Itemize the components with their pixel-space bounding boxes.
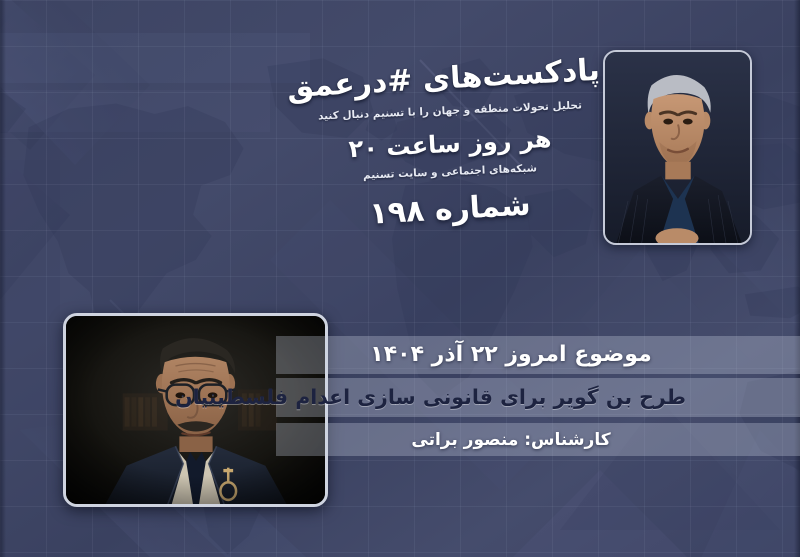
expert-band: کارشناس: منصور براتی: [336, 423, 686, 456]
main-text-block: موضوع امروز ۲۲ آذر ۱۴۰۴ طرح بن گویر برای…: [336, 336, 686, 456]
headline-text: طرح بن گویر برای قانونی سازی اعدام فلسطی…: [175, 385, 686, 409]
headline-band: طرح بن گویر برای قانونی سازی اعدام فلسطی…: [336, 378, 686, 417]
right-edge-shade: [794, 0, 800, 557]
brand-title: پادکست‌های #درعمق: [299, 54, 600, 105]
topic-date-text: موضوع امروز ۲۲ آذر ۱۴۰۴: [370, 342, 651, 367]
expert-text: کارشناس: منصور براتی: [411, 430, 610, 450]
left-edge-shade: [0, 0, 6, 557]
host-photo: [603, 50, 752, 245]
topic-date-band: موضوع امروز ۲۲ آذر ۱۴۰۴: [336, 336, 686, 374]
podcast-poster: پادکست‌های #درعمق تحلیل تحولات منطقه و ج…: [0, 0, 800, 557]
header-text-block: پادکست‌های #درعمق تحلیل تحولات منطقه و ج…: [300, 62, 600, 227]
schedule-text: هر روز ساعت ۲۰: [299, 122, 600, 166]
